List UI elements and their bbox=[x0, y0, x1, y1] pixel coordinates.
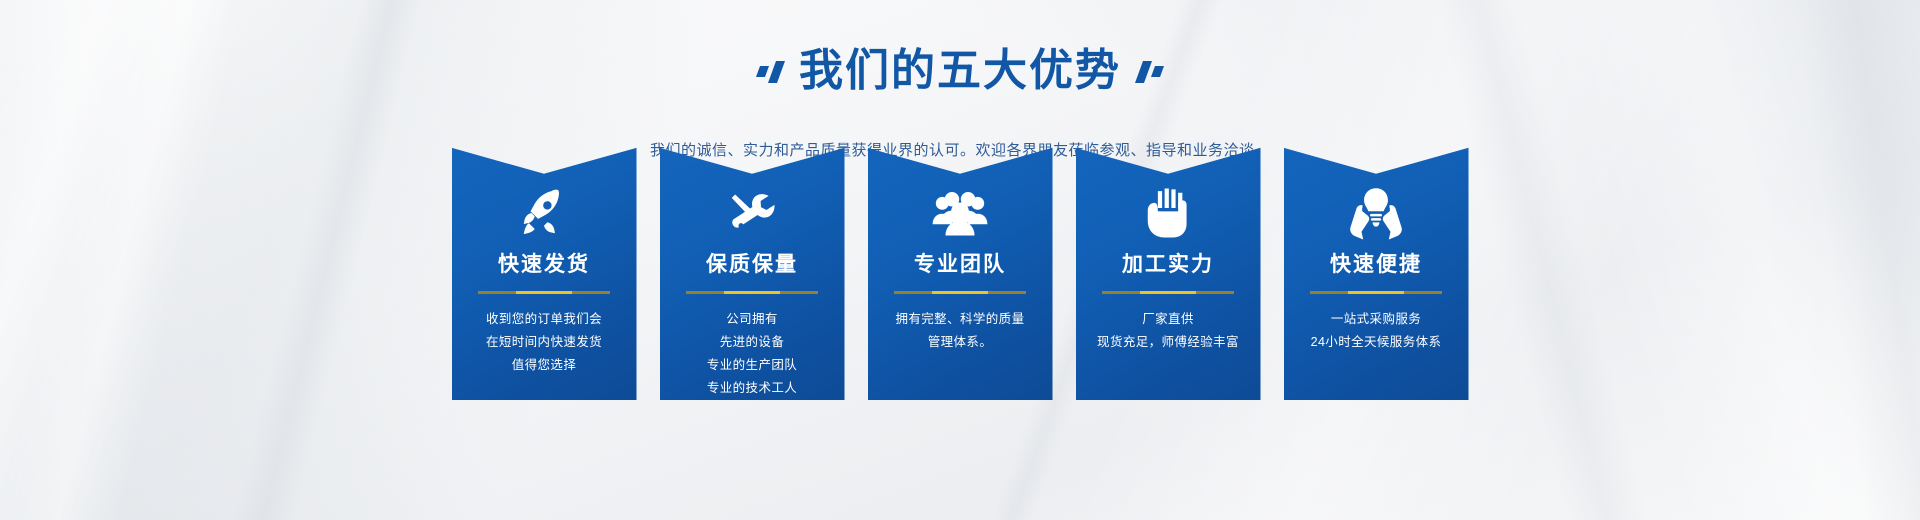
title-divider bbox=[1102, 291, 1234, 294]
rocket-icon bbox=[452, 186, 637, 240]
advantage-title: 加工实力 bbox=[1076, 254, 1261, 275]
description-line: 现货充足，师傅经验丰富 bbox=[1084, 331, 1253, 354]
advantage-card-2[interactable]: 保质保量 公司拥有 先进的设备 专业的生产团队 专业的技术工人 bbox=[660, 140, 845, 400]
description-line: 公司拥有 bbox=[668, 308, 837, 331]
advantage-title: 快速发货 bbox=[452, 254, 637, 275]
title-divider bbox=[894, 291, 1026, 294]
advantage-card-5[interactable]: 快速便捷 一站式采购服务 24小时全天候服务体系 bbox=[1284, 140, 1469, 400]
advantage-description: 一站式采购服务 24小时全天候服务体系 bbox=[1284, 308, 1469, 354]
advantage-title: 专业团队 bbox=[868, 254, 1053, 275]
advantages-banner: 我们的五大优势 我们的诚信、实力和产品质量获得业界的认可。欢迎各界朋友莅临参观、… bbox=[0, 0, 1920, 520]
slash-marks-icon bbox=[758, 61, 781, 83]
slash-marks-icon bbox=[1139, 61, 1162, 83]
title-divider bbox=[478, 291, 610, 294]
description-line: 值得您选择 bbox=[460, 354, 629, 377]
description-line: 管理体系。 bbox=[876, 331, 1045, 354]
banner-header: 我们的五大优势 我们的诚信、实力和产品质量获得业界的认可。欢迎各界朋友莅临参观、… bbox=[0, 18, 1920, 160]
advantage-title: 快速便捷 bbox=[1284, 254, 1469, 275]
description-line: 先进的设备 bbox=[668, 331, 837, 354]
title-divider bbox=[686, 291, 818, 294]
description-line: 一站式采购服务 bbox=[1292, 308, 1461, 331]
advantage-card-list: 快速发货 收到您的订单我们会 在短时间内快速发货 值得您选择 保质保量 公司拥有 bbox=[0, 140, 1920, 400]
advantage-card-1[interactable]: 快速发货 收到您的订单我们会 在短时间内快速发货 值得您选择 bbox=[452, 140, 637, 400]
advantage-description: 厂家直供 现货充足，师傅经验丰富 bbox=[1076, 308, 1261, 354]
people-group-icon bbox=[868, 186, 1053, 240]
description-line: 厂家直供 bbox=[1084, 308, 1253, 331]
description-line: 专业的技术工人 bbox=[668, 377, 837, 400]
fist-icon bbox=[1076, 186, 1261, 240]
description-line: 专业的生产团队 bbox=[668, 354, 837, 377]
title-row: 我们的五大优势 bbox=[0, 18, 1920, 125]
description-line: 在短时间内快速发货 bbox=[460, 331, 629, 354]
hands-lightbulb-icon bbox=[1284, 186, 1469, 240]
advantage-description: 拥有完整、科学的质量 管理体系。 bbox=[868, 308, 1053, 354]
advantage-card-3[interactable]: 专业团队 拥有完整、科学的质量 管理体系。 bbox=[868, 140, 1053, 400]
description-line: 收到您的订单我们会 bbox=[460, 308, 629, 331]
title-divider bbox=[1310, 291, 1442, 294]
advantage-card-4[interactable]: 加工实力 厂家直供 现货充足，师傅经验丰富 bbox=[1076, 140, 1261, 400]
description-line: 拥有完整、科学的质量 bbox=[876, 308, 1045, 331]
advantage-description: 公司拥有 先进的设备 专业的生产团队 专业的技术工人 bbox=[660, 308, 845, 401]
advantage-title: 保质保量 bbox=[660, 254, 845, 275]
description-line: 24小时全天候服务体系 bbox=[1292, 331, 1461, 354]
wrench-screwdriver-icon bbox=[660, 186, 845, 240]
advantage-description: 收到您的订单我们会 在短时间内快速发货 值得您选择 bbox=[452, 308, 637, 377]
page-title: 我们的五大优势 bbox=[799, 47, 1121, 95]
